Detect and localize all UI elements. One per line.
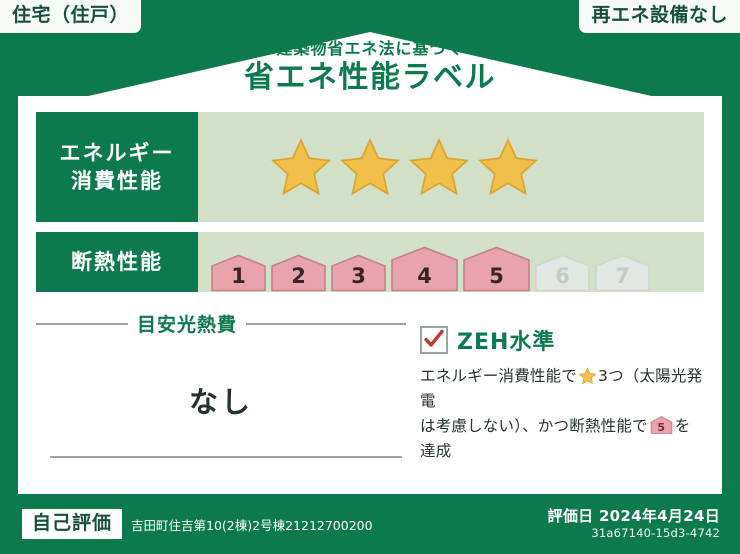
zeh-checkbox-checked <box>420 326 448 354</box>
label-card: エネルギー 消費性能 断熱性能 1234567 <box>18 96 722 494</box>
zeh-block: ZEH水準 エネルギー消費性能で3つ（太陽光発電は考慮しない）、かつ断熱性能で5… <box>406 308 704 488</box>
insulation-level-number: 4 <box>390 266 459 287</box>
insulation-level-scale: 1234567 <box>198 232 651 292</box>
insulation-level-5: 5 <box>462 246 531 292</box>
property-address: 吉田町住吉第10(2棟)2号棟21212700200 <box>131 515 373 534</box>
zeh-description: エネルギー消費性能で3つ（太陽光発電は考慮しない）、かつ断熱性能で5を達成 <box>420 364 704 464</box>
insulation-level-number: 7 <box>594 266 651 287</box>
insulation-level-2: 2 <box>270 254 327 292</box>
evaluation-date: 評価日 2024年4月24日 <box>548 507 720 526</box>
insulation-level-3: 3 <box>330 254 387 292</box>
self-evaluation-badge: 自己評価 <box>22 509 122 540</box>
footer-right: 評価日 2024年4月24日 31a67140-15d3-4742 <box>548 507 740 541</box>
star-icon <box>270 137 332 197</box>
row-energy-label-line2: 消費性能 <box>71 167 163 195</box>
zeh-desc-part1: エネルギー消費性能で <box>420 367 577 385</box>
row-insulation-label-text: 断熱性能 <box>71 248 163 276</box>
star-icon <box>477 137 539 197</box>
inline-house-number: 5 <box>650 422 673 433</box>
row-energy-label-line1: エネルギー <box>60 139 175 167</box>
insulation-level-number: 1 <box>210 266 267 287</box>
cost-rule-right <box>246 323 406 325</box>
zeh-title: ZEH水準 <box>457 324 555 356</box>
inline-house-level-icon: 5 <box>650 416 673 434</box>
utility-cost-header: 目安光熱費 <box>36 308 406 337</box>
insulation-level-6: 6 <box>534 254 591 292</box>
utility-cost-value: なし <box>36 379 406 421</box>
row-insulation-body: 1234567 <box>198 232 704 292</box>
row-energy-performance: エネルギー 消費性能 <box>36 112 704 222</box>
insulation-level-7: 7 <box>594 254 651 292</box>
row-insulation-label: 断熱性能 <box>36 232 198 292</box>
label-footer: 自己評価 吉田町住吉第10(2棟)2号棟21212700200 評価日 2024… <box>0 494 740 554</box>
lower-section: 目安光熱費 なし ZEH水準 エネルギー消費性能で3つ（太陽光発電は考慮しな <box>36 308 704 488</box>
insulation-level-number: 3 <box>330 266 387 287</box>
energy-performance-label: 住宅（住戸） 再エネ設備なし 建築物省エネ法に基づく 省エネ性能ラベル エネルギ… <box>0 0 740 554</box>
cost-rule-left <box>36 323 128 325</box>
insulation-level-number: 2 <box>270 266 327 287</box>
insulation-level-1: 1 <box>210 254 267 292</box>
evaluation-id: 31a67140-15d3-4742 <box>548 526 720 541</box>
star-icon <box>339 137 401 197</box>
inline-star-icon <box>578 367 597 385</box>
star-rating <box>198 137 539 197</box>
badge-building-type: 住宅（住戸） <box>0 0 141 33</box>
row-insulation-performance: 断熱性能 1234567 <box>36 232 704 292</box>
utility-cost-block: 目安光熱費 なし <box>36 308 406 488</box>
performance-rows: エネルギー 消費性能 断熱性能 1234567 <box>36 112 704 302</box>
row-energy-body <box>198 112 704 222</box>
insulation-level-number: 6 <box>534 266 591 287</box>
badge-renewable-energy: 再エネ設備なし <box>579 0 740 33</box>
insulation-level-4: 4 <box>390 246 459 292</box>
cost-bottom-rule <box>50 456 402 458</box>
zeh-desc-part2: は考慮しない）、かつ断熱性能で <box>420 417 648 435</box>
row-energy-label: エネルギー 消費性能 <box>36 112 198 222</box>
footer-left: 自己評価 吉田町住吉第10(2棟)2号棟21212700200 <box>0 509 548 540</box>
zeh-header: ZEH水準 <box>420 324 704 356</box>
star-icon <box>408 137 470 197</box>
utility-cost-title: 目安光熱費 <box>137 310 237 337</box>
insulation-level-number: 5 <box>462 266 531 287</box>
